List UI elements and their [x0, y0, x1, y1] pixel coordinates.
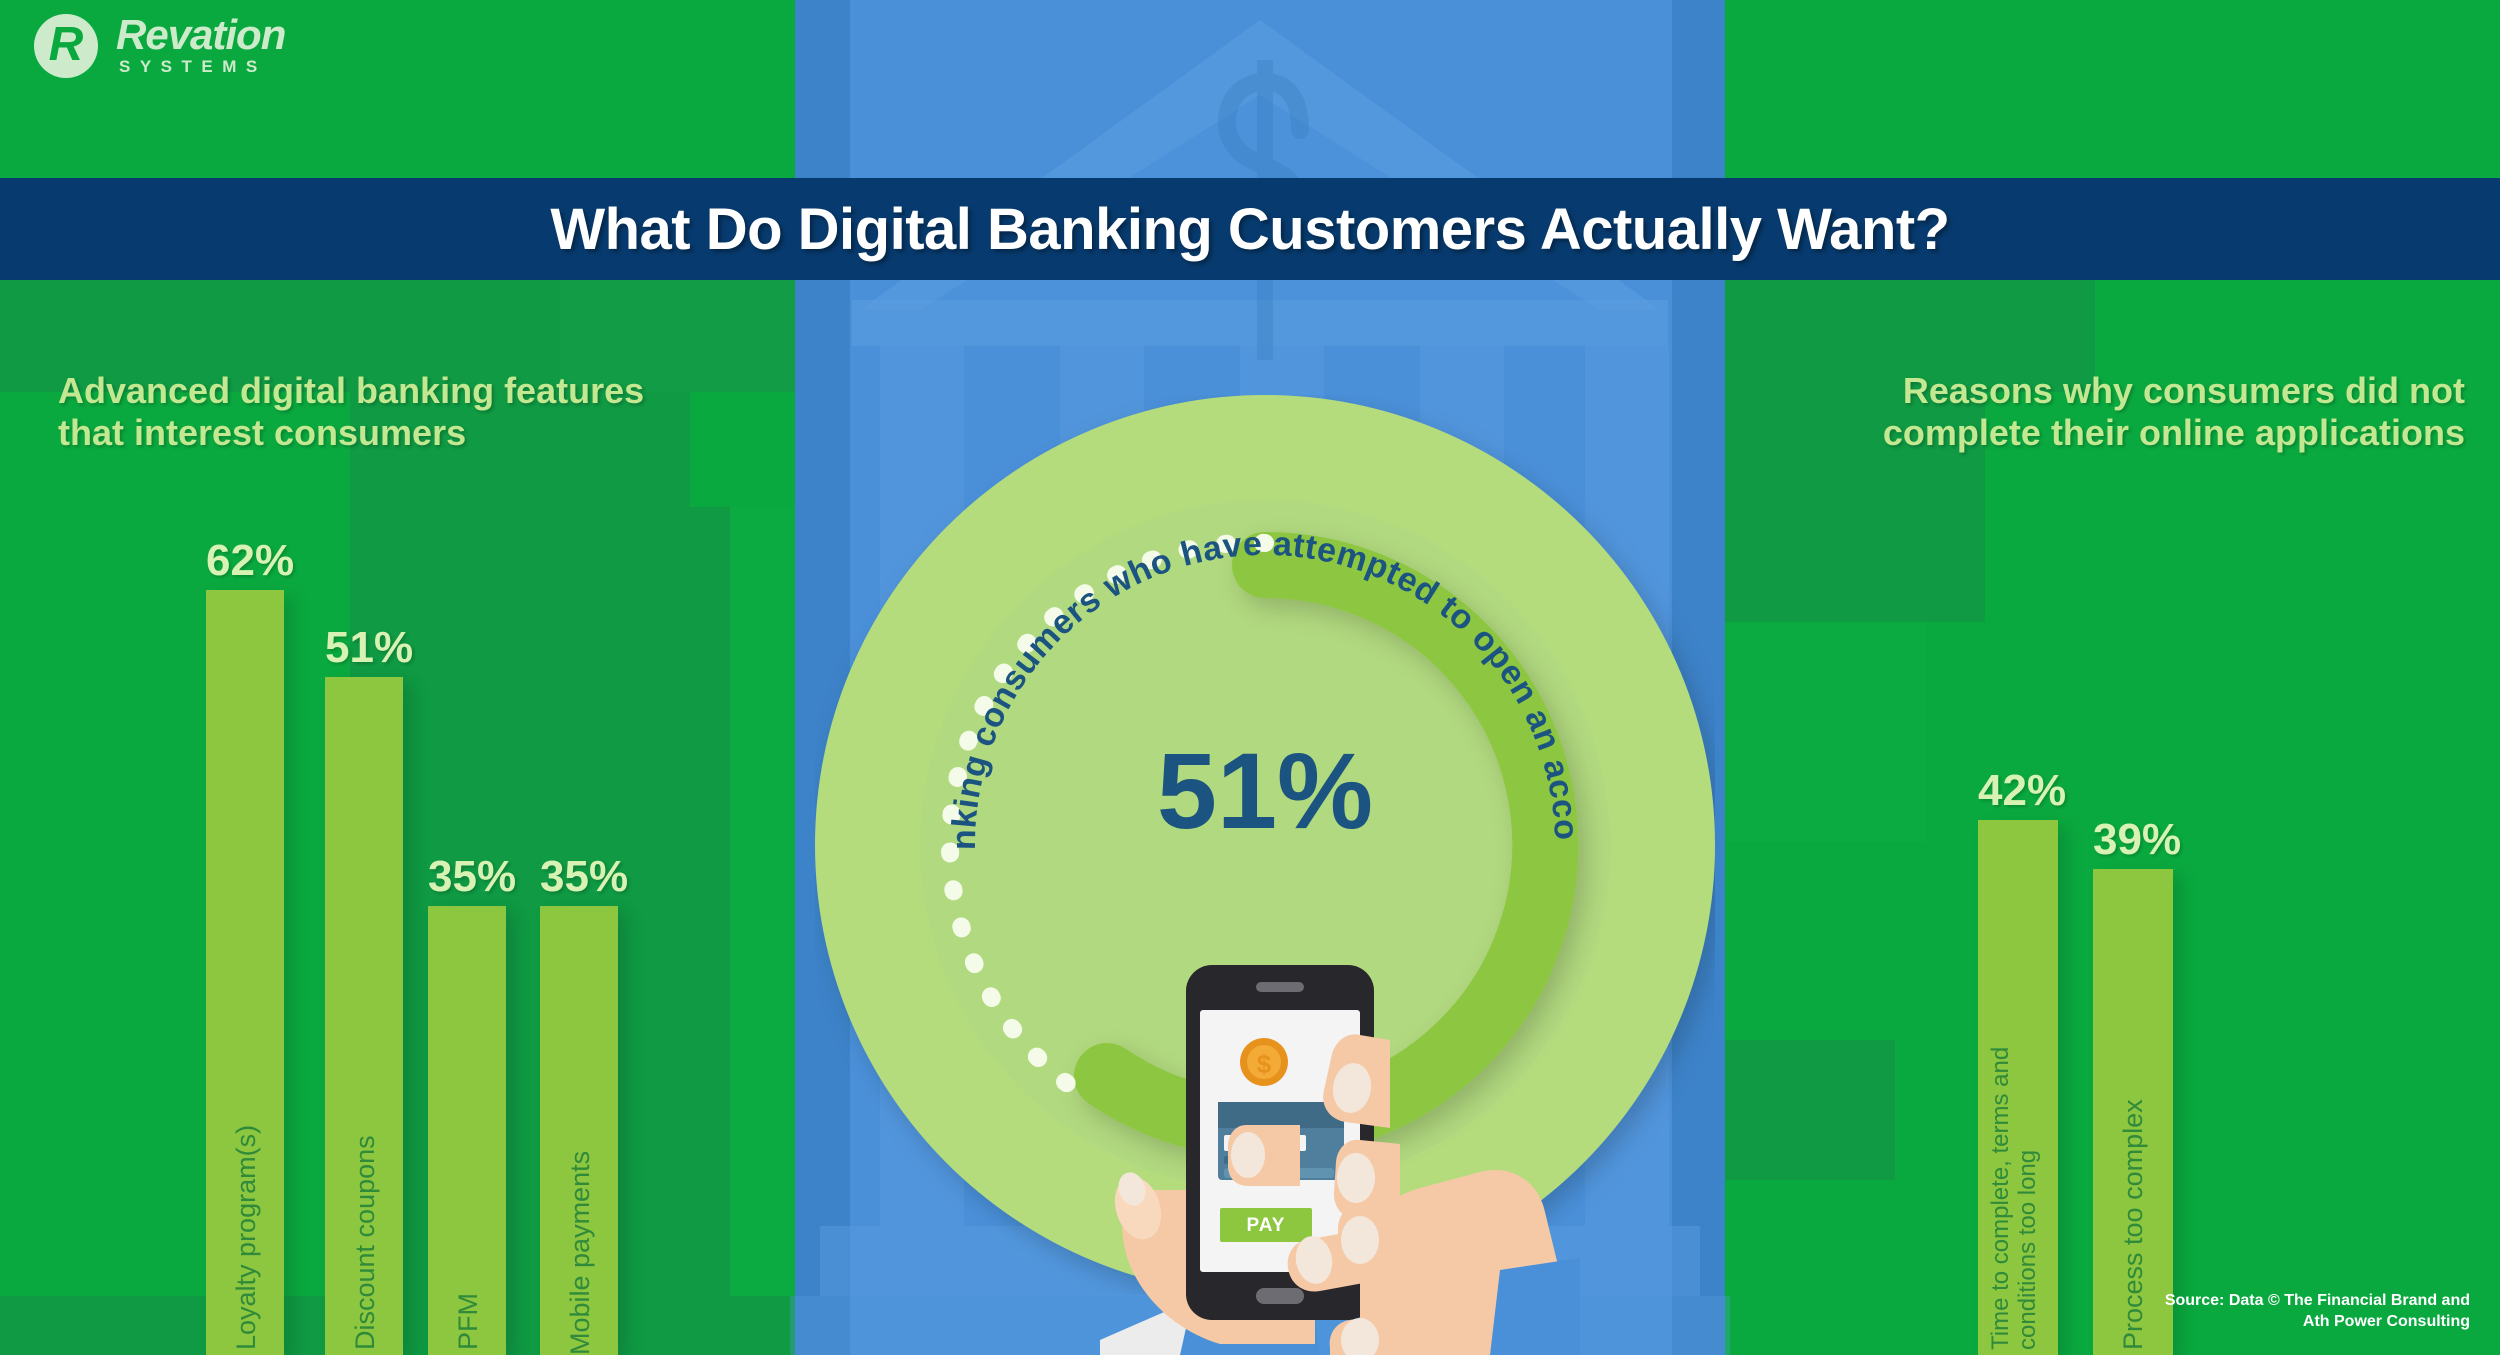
mobile-payment-illustration: $ XXXXXX XXXXX PAY	[1060, 940, 1580, 1355]
deco-block-left-6	[730, 507, 800, 1297]
bar-label-3: Mobile payments	[565, 1075, 595, 1355]
bar-value-0: 62%	[206, 536, 294, 586]
page-title: What Do Digital Banking Customers Actual…	[550, 196, 1949, 263]
title-banner: What Do Digital Banking Customers Actual…	[0, 178, 2500, 280]
deco-block-right-4	[1725, 1040, 1895, 1180]
bar-label-0: Loyalty program(s)	[231, 1050, 261, 1350]
shirt-right	[1490, 1258, 1580, 1355]
left-section-heading: Advanced digital banking features that i…	[58, 370, 698, 455]
right-section-heading: Reasons why consumers did not complete t…	[1735, 370, 2465, 455]
bar-value-2: 35%	[428, 852, 516, 902]
bar-value-3: 35%	[540, 852, 628, 902]
grip-finger-low-nail	[1341, 1216, 1379, 1264]
phone-home-button	[1256, 1288, 1304, 1304]
source-line-1: Source: Data © The Financial Brand and	[2165, 1290, 2470, 1312]
deco-block-left-4	[690, 392, 800, 507]
bar-label-2: PFM	[453, 1230, 483, 1350]
coin-dollar-symbol: $	[1257, 1049, 1272, 1079]
left-finger-1-nail	[1231, 1132, 1265, 1178]
phone-illustration-svg: $ XXXXXX XXXXX PAY	[1060, 940, 1580, 1355]
logo-wordmark: Revation SYSTEMS	[116, 15, 285, 77]
right-bar-label-1: Process too complex	[2118, 1060, 2148, 1350]
pay-button-label: PAY	[1247, 1215, 1286, 1236]
bar-label-1: Discount coupons	[350, 1050, 380, 1350]
grip-finger-mid-nail	[1337, 1153, 1375, 1203]
logo-tagline: SYSTEMS	[119, 57, 285, 77]
bar-value-1: 51%	[325, 623, 413, 673]
donut-center-value: 51%	[815, 737, 1715, 845]
phone-speaker	[1256, 982, 1304, 992]
deco-block-right-3	[1725, 622, 1925, 842]
brand-logo[interactable]: R Revation SYSTEMS	[34, 14, 285, 78]
source-line-2: Ath Power Consulting	[2165, 1311, 2470, 1333]
right-bar-value-1: 39%	[2093, 815, 2181, 865]
right-bar-value-0: 42%	[1978, 766, 2066, 816]
right-bar-label-0: Time to complete, terms and conditions t…	[1988, 1000, 2052, 1350]
source-citation: Source: Data © The Financial Brand and A…	[2165, 1290, 2470, 1333]
logo-mark-letter: R	[49, 21, 84, 69]
logo-mark-icon: R	[34, 14, 98, 78]
logo-brand-name: Revation	[116, 15, 285, 55]
infographic-canvas: R Revation SYSTEMS What Do Digital Banki…	[0, 0, 2500, 1355]
